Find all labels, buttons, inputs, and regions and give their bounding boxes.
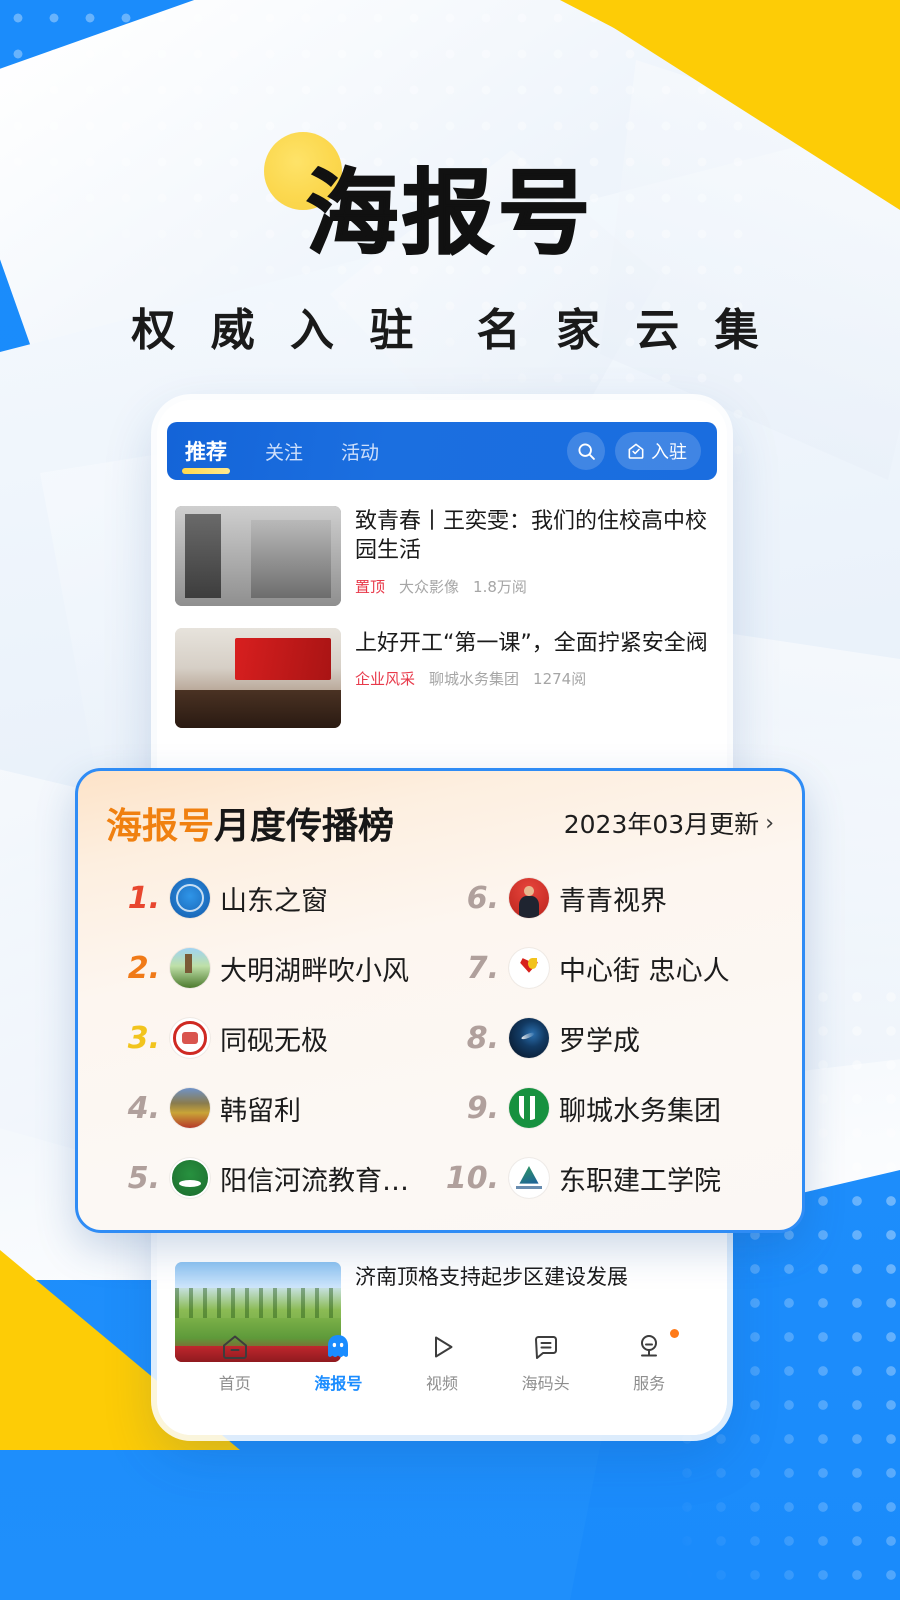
list-item[interactable]: 3. 同砚无极 bbox=[104, 1003, 439, 1073]
article-title: 济南顶格支持起步区建设发展 bbox=[355, 1263, 709, 1291]
article-tag: 置顶 bbox=[355, 576, 385, 597]
page-title: 海报号 bbox=[0, 168, 900, 260]
subtitle-right: 名 家 云 集 bbox=[477, 305, 769, 356]
article-title: 致青春丨王奕雯：我们的住校高中校园生活 bbox=[355, 507, 709, 566]
check-house-icon bbox=[626, 441, 646, 461]
rank-number: 1. bbox=[104, 881, 160, 916]
tabbar-label-service: 服务 bbox=[633, 1370, 665, 1394]
rank-number: 9. bbox=[443, 1091, 499, 1126]
tabbar-item-haibaohao[interactable]: 海报号 bbox=[287, 1331, 391, 1394]
ranking-title: 海报号月度传播榜 bbox=[106, 797, 394, 849]
list-item[interactable]: 6. 青青视界 bbox=[443, 863, 778, 933]
subtitle-left: 权 威 入 驻 bbox=[131, 305, 423, 356]
list-item[interactable]: 8. 罗学成 bbox=[443, 1003, 778, 1073]
tabbar-label-haimatou: 海码头 bbox=[522, 1370, 570, 1394]
list-item[interactable]: 10. 东职建工学院 bbox=[443, 1143, 778, 1213]
article-thumbnail bbox=[175, 628, 341, 728]
avatar bbox=[509, 878, 549, 918]
rank-account-name: 聊城水务集团 bbox=[559, 1089, 721, 1128]
avatar bbox=[509, 1088, 549, 1128]
feed-item[interactable]: 上好开工“第一课”，全面拧紧安全阀 企业风采 聊城水务集团 1274阅 bbox=[175, 616, 709, 738]
article-feed: 致青春丨王奕雯：我们的住校高中校园生活 置顶 大众影像 1.8万阅 上好开工“第… bbox=[157, 494, 727, 738]
tabbar-label-home: 首页 bbox=[219, 1370, 251, 1394]
avatar bbox=[509, 1018, 549, 1058]
avatar bbox=[170, 878, 210, 918]
app-header: 推荐 关注 活动 入驻 bbox=[167, 422, 717, 480]
poster-headline: 海报号 权 威 入 驻 名 家 云 集 bbox=[0, 168, 900, 358]
tabbar-item-home[interactable]: 首页 bbox=[183, 1331, 287, 1394]
rank-account-name: 山东之窗 bbox=[220, 879, 328, 918]
message-icon bbox=[530, 1331, 562, 1363]
article-meta: 企业风采 聊城水务集团 1274阅 bbox=[355, 668, 709, 689]
avatar bbox=[170, 948, 210, 988]
article-meta: 置顶 大众影像 1.8万阅 bbox=[355, 576, 709, 597]
rank-account-name: 韩留利 bbox=[220, 1089, 301, 1128]
rank-account-name: 青青视界 bbox=[559, 879, 667, 918]
article-source: 聊城水务集团 bbox=[429, 668, 519, 689]
list-item[interactable]: 2. 大明湖畔吹小风 bbox=[104, 933, 439, 1003]
join-button-label: 入驻 bbox=[651, 438, 687, 464]
rank-account-name: 罗学成 bbox=[559, 1019, 640, 1058]
article-reads: 1274阅 bbox=[533, 668, 586, 689]
ranking-update-link[interactable]: 2023年03月更新 › bbox=[564, 805, 774, 841]
chevron-right-icon: › bbox=[765, 811, 774, 836]
article-reads: 1.8万阅 bbox=[473, 576, 527, 597]
header-actions: 入驻 bbox=[567, 432, 701, 470]
rank-number: 10. bbox=[443, 1161, 499, 1196]
page-subtitle: 权 威 入 驻 名 家 云 集 bbox=[0, 294, 900, 358]
ranking-update-label: 2023年03月更新 bbox=[564, 805, 759, 841]
rank-account-name: 大明湖畔吹小风 bbox=[220, 949, 409, 988]
rank-number: 5. bbox=[104, 1161, 160, 1196]
ghost-icon bbox=[322, 1331, 354, 1363]
monthly-ranking-card: 海报号月度传播榜 2023年03月更新 › 1. 山东之窗 6. 青青视界 2.… bbox=[75, 768, 805, 1233]
search-icon bbox=[576, 441, 597, 462]
avatar bbox=[170, 1088, 210, 1128]
article-thumbnail bbox=[175, 506, 341, 606]
article-tag: 企业风采 bbox=[355, 668, 415, 689]
avatar bbox=[170, 1158, 210, 1198]
ranking-list: 1. 山东之窗 6. 青青视界 2. 大明湖畔吹小风 7. 中心街 忠心人 3.… bbox=[78, 863, 802, 1213]
list-item[interactable]: 5. 阳信河流教育… bbox=[104, 1143, 439, 1213]
tab-recommend[interactable]: 推荐 bbox=[183, 433, 229, 469]
ranking-title-brand: 海报号 bbox=[106, 806, 214, 847]
tabbar-item-haimatou[interactable]: 海码头 bbox=[494, 1331, 598, 1394]
ranking-header: 海报号月度传播榜 2023年03月更新 › bbox=[78, 771, 802, 849]
tabbar-item-video[interactable]: 视频 bbox=[390, 1331, 494, 1394]
list-item[interactable]: 1. 山东之窗 bbox=[104, 863, 439, 933]
rank-number: 2. bbox=[104, 951, 160, 986]
rank-number: 6. bbox=[443, 881, 499, 916]
avatar bbox=[509, 1158, 549, 1198]
rank-account-name: 同砚无极 bbox=[220, 1019, 328, 1058]
rank-account-name: 阳信河流教育… bbox=[220, 1159, 409, 1198]
list-item[interactable]: 4. 韩留利 bbox=[104, 1073, 439, 1143]
bottom-tab-bar: 首页 海报号 视频 bbox=[157, 1325, 727, 1417]
feed-item[interactable]: 致青春丨王奕雯：我们的住校高中校园生活 置顶 大众影像 1.8万阅 bbox=[175, 494, 709, 616]
search-button[interactable] bbox=[567, 432, 605, 470]
tab-follow[interactable]: 关注 bbox=[263, 435, 305, 468]
app-tab-list: 推荐 关注 活动 bbox=[183, 433, 567, 469]
rank-number: 4. bbox=[104, 1091, 160, 1126]
home-icon bbox=[219, 1331, 251, 1363]
article-source: 大众影像 bbox=[399, 576, 459, 597]
list-item[interactable]: 7. 中心街 忠心人 bbox=[443, 933, 778, 1003]
tabbar-label-haibaohao: 海报号 bbox=[314, 1370, 362, 1394]
person-icon bbox=[633, 1331, 665, 1363]
avatar bbox=[170, 1018, 210, 1058]
tab-activity[interactable]: 活动 bbox=[339, 435, 381, 468]
join-button[interactable]: 入驻 bbox=[615, 432, 701, 470]
tabbar-label-video: 视频 bbox=[426, 1370, 458, 1394]
service-badge-dot bbox=[670, 1329, 679, 1338]
list-item[interactable]: 9. 聊城水务集团 bbox=[443, 1073, 778, 1143]
rank-number: 8. bbox=[443, 1021, 499, 1056]
play-icon bbox=[426, 1331, 458, 1363]
article-title: 上好开工“第一课”，全面拧紧安全阀 bbox=[355, 629, 709, 658]
rank-number: 3. bbox=[104, 1021, 160, 1056]
avatar bbox=[509, 948, 549, 988]
rank-account-name: 东职建工学院 bbox=[559, 1159, 721, 1198]
tabbar-item-service[interactable]: 服务 bbox=[597, 1331, 701, 1394]
ranking-title-rest: 月度传播榜 bbox=[214, 806, 394, 847]
rank-number: 7. bbox=[443, 951, 499, 986]
rank-account-name: 中心街 忠心人 bbox=[559, 949, 730, 988]
